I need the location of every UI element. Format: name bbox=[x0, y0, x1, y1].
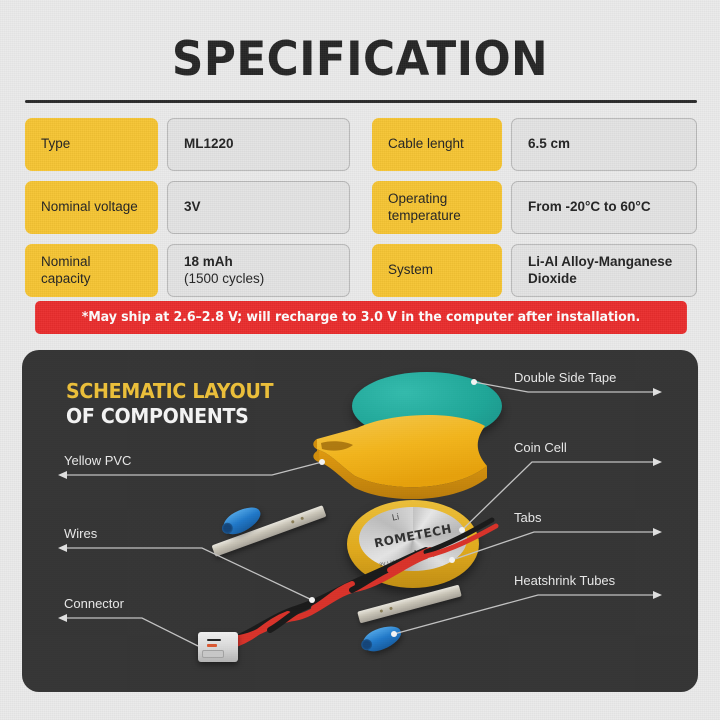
callout-label-double-side-tape: Double Side Tape bbox=[514, 370, 616, 385]
spec-value: 18 mAh (1500 cycles) bbox=[167, 244, 350, 297]
spec-row: System Li-Al Alloy-Manganese Dioxide bbox=[372, 244, 697, 297]
spec-label: Type bbox=[25, 118, 158, 171]
spec-value-main: 18 mAh bbox=[184, 254, 333, 271]
callout-label-connector: Connector bbox=[64, 596, 124, 611]
spec-value: ML1220 bbox=[167, 118, 350, 171]
spec-value-main: 3V bbox=[184, 199, 333, 216]
callout-label-wires: Wires bbox=[64, 526, 97, 541]
spec-row: Type ML1220 bbox=[25, 118, 350, 171]
spec-table: Type ML1220 Nominal voltage 3V Nominal c… bbox=[25, 118, 697, 297]
schematic-panel: SCHEMATIC LAYOUT OF COMPONENTS bbox=[22, 350, 698, 692]
spec-label: Operating temperature bbox=[372, 181, 502, 234]
spec-label: Nominal capacity bbox=[25, 244, 158, 297]
spec-value-sub: (1500 cycles) bbox=[184, 271, 333, 288]
page-title: SPECIFICATION bbox=[25, 32, 695, 87]
callout-leader-lines bbox=[22, 350, 698, 692]
spec-value-main: Li-Al Alloy-Manganese Dioxide bbox=[528, 254, 680, 288]
callout-label-tabs: Tabs bbox=[514, 510, 541, 525]
callout-label-yellow-pvc: Yellow PVC bbox=[64, 453, 131, 468]
spec-row: Nominal capacity 18 mAh (1500 cycles) bbox=[25, 244, 350, 297]
spec-value: 6.5 cm bbox=[511, 118, 697, 171]
callout-label-heatshrink-tubes: Heatshrink Tubes bbox=[514, 573, 615, 588]
spec-value-main: 6.5 cm bbox=[528, 136, 680, 153]
spec-value: From -20°C to 60°C bbox=[511, 181, 697, 234]
specification-page: SPECIFICATION Type ML1220 Nominal voltag… bbox=[0, 0, 720, 720]
spec-column-left: Type ML1220 Nominal voltage 3V Nominal c… bbox=[25, 118, 350, 297]
spec-label: Cable lenght bbox=[372, 118, 502, 171]
spec-value: Li-Al Alloy-Manganese Dioxide bbox=[511, 244, 697, 297]
spec-value-main: ML1220 bbox=[184, 136, 333, 153]
spec-value: 3V bbox=[167, 181, 350, 234]
spec-row: Cable lenght 6.5 cm bbox=[372, 118, 697, 171]
title-divider bbox=[25, 100, 697, 103]
callout-label-coin-cell: Coin Cell bbox=[514, 440, 567, 455]
spec-row: Operating temperature From -20°C to 60°C bbox=[372, 181, 697, 234]
spec-value-main: From -20°C to 60°C bbox=[528, 199, 680, 216]
note-text: *May ship at 2.6–2.8 V; will recharge to… bbox=[82, 310, 641, 325]
spec-label: System bbox=[372, 244, 502, 297]
spec-label: Nominal voltage bbox=[25, 181, 158, 234]
spec-column-right: Cable lenght 6.5 cm Operating temperatur… bbox=[372, 118, 697, 297]
shipping-voltage-note: *May ship at 2.6–2.8 V; will recharge to… bbox=[35, 301, 687, 334]
spec-row: Nominal voltage 3V bbox=[25, 181, 350, 234]
